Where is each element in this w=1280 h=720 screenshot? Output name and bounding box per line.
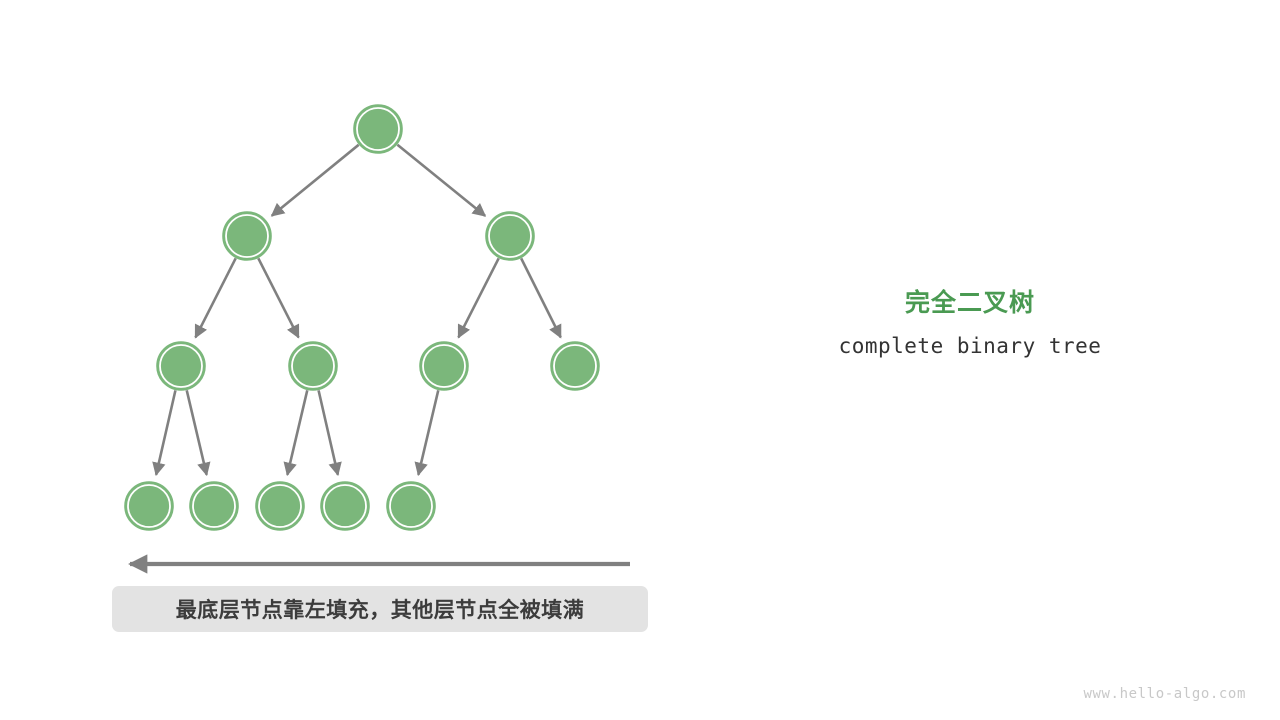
tree-node-core (490, 216, 530, 256)
tree-node[interactable] (420, 342, 468, 390)
tree-node[interactable] (289, 342, 337, 390)
tree-node-core (358, 109, 398, 149)
tree-edge (187, 390, 207, 475)
tree-edge (272, 145, 359, 216)
tree-node-core (129, 486, 169, 526)
tree-node-core (293, 346, 333, 386)
legend-subtitle: complete binary tree (760, 334, 1180, 359)
tree-edge (397, 145, 485, 216)
watermark: www.hello-algo.com (1083, 686, 1246, 702)
tree-node-core (391, 486, 431, 526)
tree-edge (521, 258, 561, 337)
tree-edge (319, 390, 338, 474)
legend-title: 完全二叉树 (760, 288, 1180, 318)
tree-node-core (325, 486, 365, 526)
tree-edge-layer (156, 145, 561, 475)
tree-edge (258, 258, 298, 337)
tree-edge (195, 258, 235, 337)
tree-node[interactable] (223, 212, 271, 260)
caption-pill: 最底层节点靠左填充，其他层节点全被填满 (112, 586, 648, 632)
tree-edge (287, 390, 307, 475)
tree-node[interactable] (551, 342, 599, 390)
tree-node[interactable] (354, 105, 402, 153)
tree-node[interactable] (125, 482, 173, 530)
tree-node-layer (125, 105, 599, 530)
tree-node[interactable] (157, 342, 205, 390)
tree-node[interactable] (387, 482, 435, 530)
tree-node-core (161, 346, 201, 386)
tree-node[interactable] (190, 482, 238, 530)
tree-node-core (227, 216, 267, 256)
tree-node[interactable] (256, 482, 304, 530)
caption-label: 最底层节点靠左填充，其他层节点全被填满 (176, 594, 585, 624)
tree-node-core (260, 486, 300, 526)
tree-node-core (194, 486, 234, 526)
tree-edge (156, 390, 175, 474)
diagram-stage: 完全二叉树 complete binary tree 最底层节点靠左填充，其他层… (0, 0, 1280, 720)
tree-node-core (555, 346, 595, 386)
tree-node[interactable] (321, 482, 369, 530)
legend-block: 完全二叉树 complete binary tree (760, 288, 1180, 359)
tree-node[interactable] (486, 212, 534, 260)
tree-edge (458, 258, 498, 337)
tree-node-core (424, 346, 464, 386)
tree-edge (418, 390, 438, 475)
